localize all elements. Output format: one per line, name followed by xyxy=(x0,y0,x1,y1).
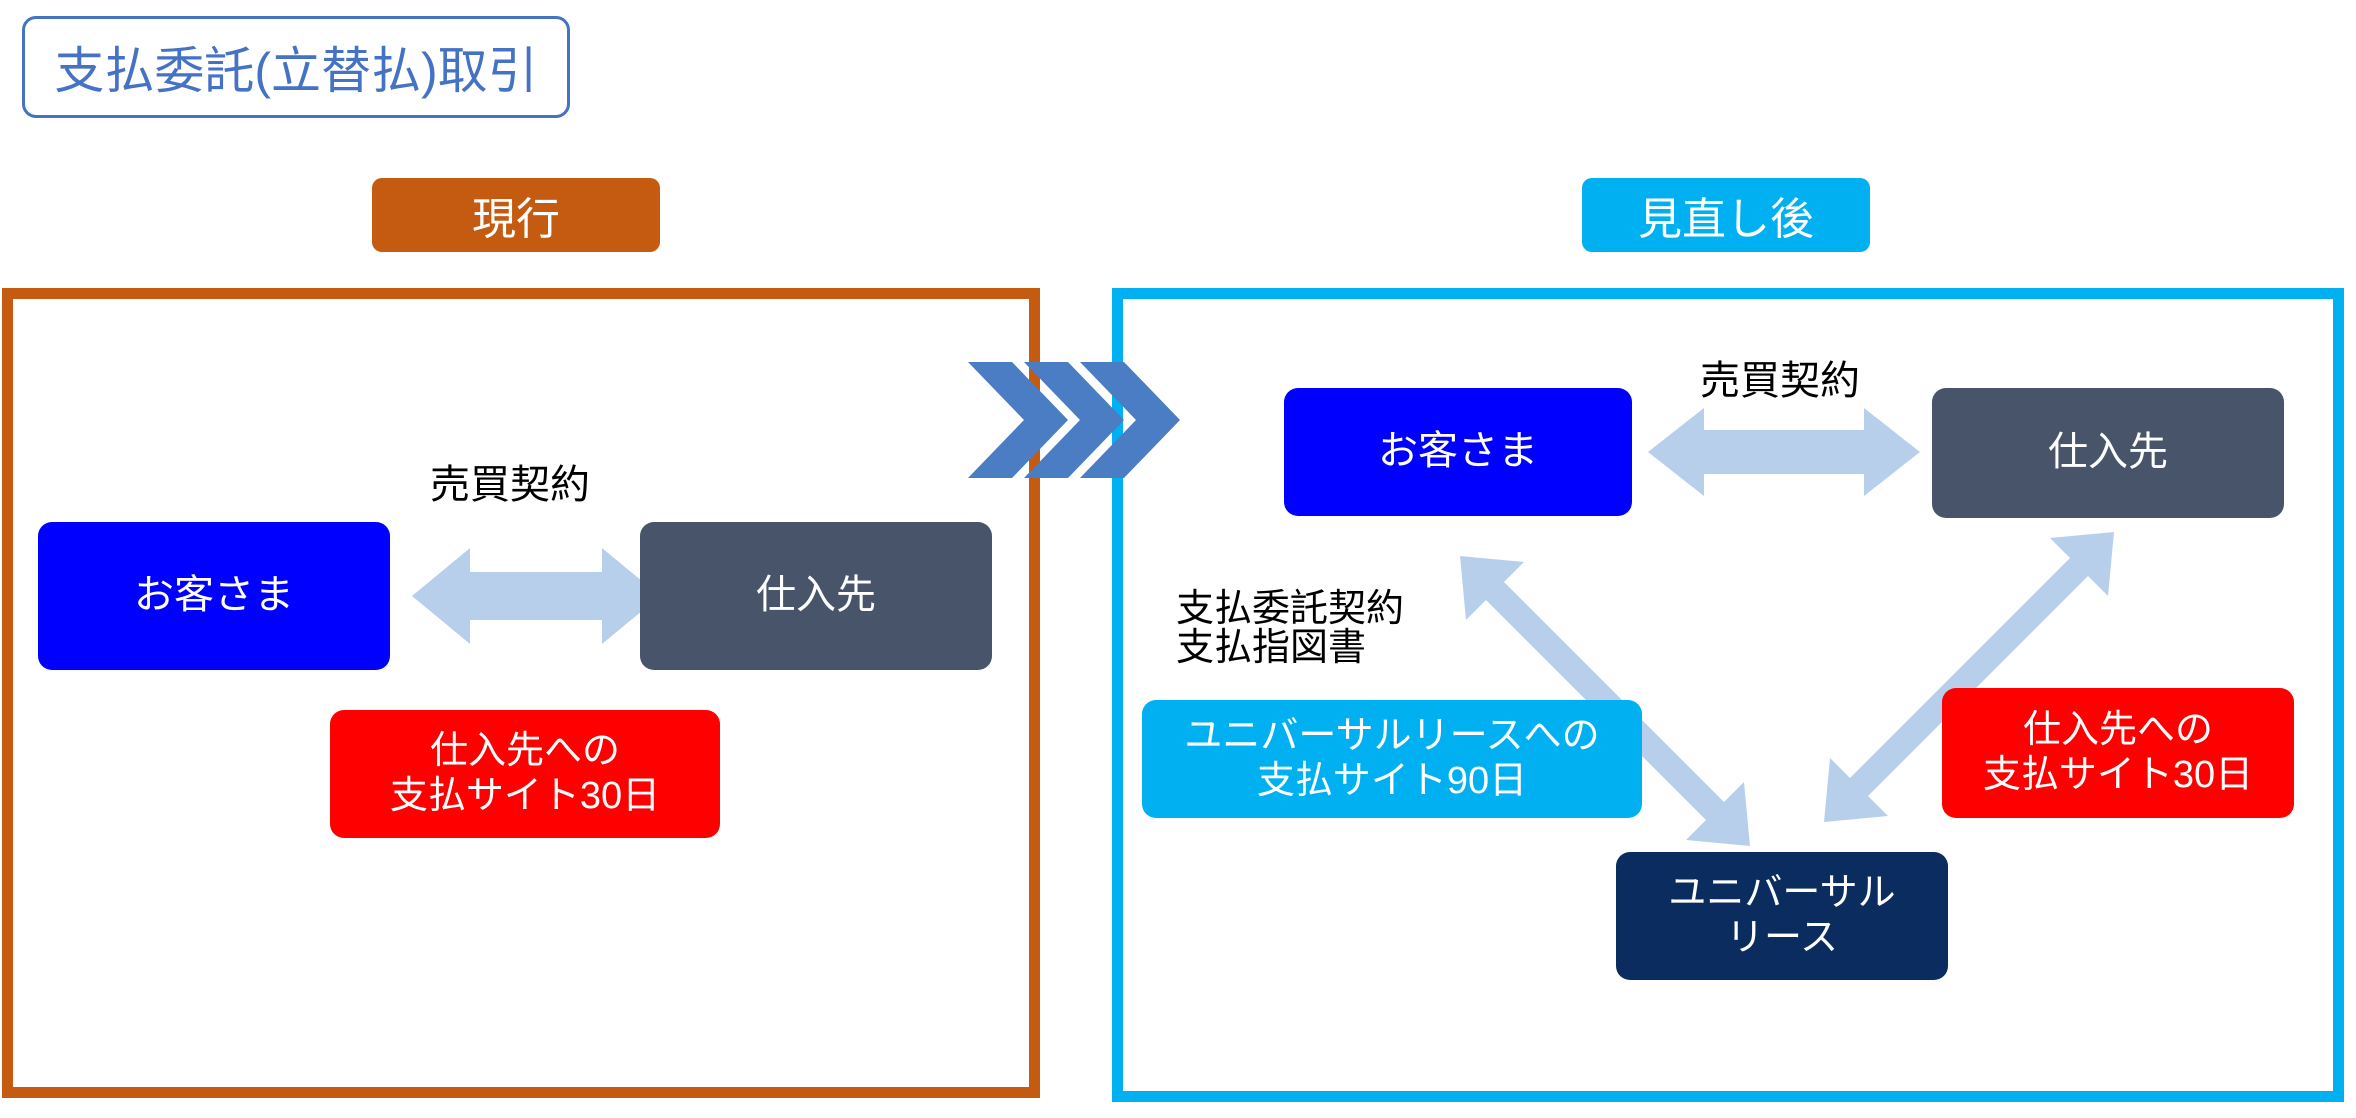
node-revised-customer[interactable]: お客さま xyxy=(1284,388,1632,516)
section-header-current-label: 現行 xyxy=(472,183,560,247)
node-revised-lessor-line2: リース xyxy=(1726,916,1838,961)
node-revised-ul-payment-term-line1: ユニバーサルリースへの xyxy=(1184,714,1599,759)
node-revised-supplier-payment-term[interactable]: 仕入先への 支払サイト30日 xyxy=(1942,688,2294,818)
node-revised-supplier-label: 仕入先 xyxy=(2048,429,2168,476)
node-current-customer-label: お客さま xyxy=(134,572,294,619)
node-revised-customer-label: お客さま xyxy=(1378,428,1538,475)
section-header-revised: 見直し後 xyxy=(1582,178,1870,252)
label-current-sales-contract: 売買契約 xyxy=(430,452,590,510)
label-revised-payment-entrustment-line2: 支払指図書 xyxy=(1176,629,1404,668)
node-revised-lessor-line1: ユニバーサル xyxy=(1668,871,1895,916)
node-revised-ul-payment-term[interactable]: ユニバーサルリースへの 支払サイト90日 xyxy=(1142,700,1642,818)
node-current-supplier-label: 仕入先 xyxy=(756,572,876,619)
label-revised-payment-entrustment: 支払委託契約 支払指図書 xyxy=(1176,590,1404,668)
node-revised-supplier-payment-term-line1: 仕入先への xyxy=(2023,708,2213,753)
node-revised-ul-payment-term-line2: 支払サイト90日 xyxy=(1257,759,1527,804)
diagram-canvas: 支払委託(立替払)取引 現行 見直し後 xyxy=(0,0,2356,1118)
node-current-supplier[interactable]: 仕入先 xyxy=(640,522,992,670)
node-revised-supplier[interactable]: 仕入先 xyxy=(1932,388,2284,518)
node-current-supplier-payment-term-line1: 仕入先への xyxy=(430,729,620,774)
panel-current xyxy=(2,288,1040,1098)
node-current-supplier-payment-term[interactable]: 仕入先への 支払サイト30日 xyxy=(330,710,720,838)
label-revised-sales-contract: 売買契約 xyxy=(1700,348,1860,406)
section-header-revised-label: 見直し後 xyxy=(1638,183,1814,247)
diagram-title-text: 支払委託(立替払)取引 xyxy=(54,31,537,103)
node-revised-supplier-payment-term-line2: 支払サイト30日 xyxy=(1983,753,2253,798)
diagram-title-box: 支払委託(立替払)取引 xyxy=(22,16,570,118)
node-revised-lessor[interactable]: ユニバーサル リース xyxy=(1616,852,1948,980)
section-header-current: 現行 xyxy=(372,178,660,252)
node-current-customer[interactable]: お客さま xyxy=(38,522,390,670)
node-current-supplier-payment-term-line2: 支払サイト30日 xyxy=(390,774,660,819)
label-revised-payment-entrustment-line1: 支払委託契約 xyxy=(1176,590,1404,629)
